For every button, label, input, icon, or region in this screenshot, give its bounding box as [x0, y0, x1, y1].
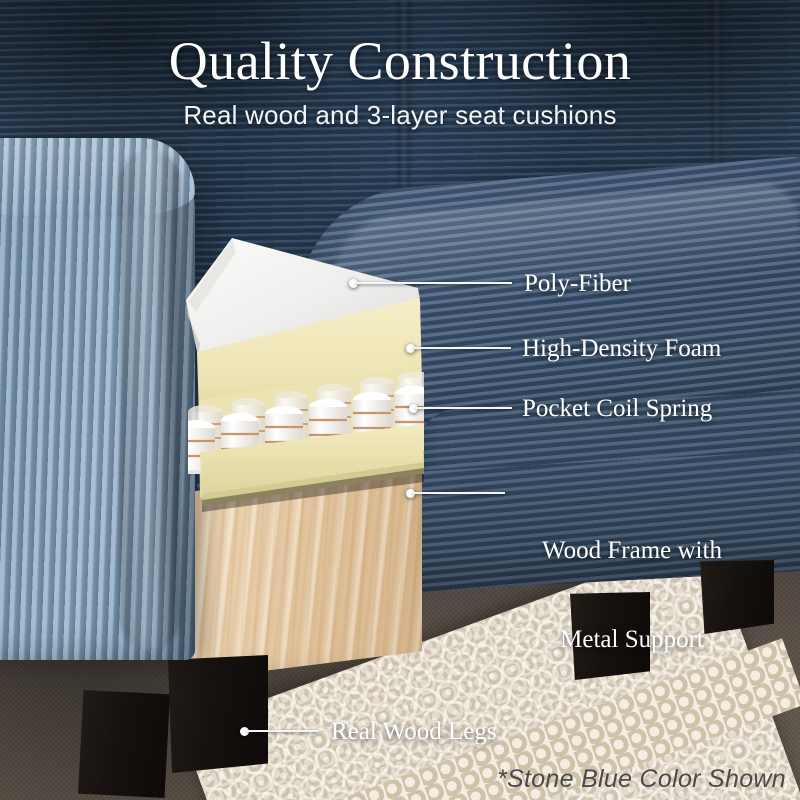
callout-label-real-wood-legs: Real Wood Legs	[331, 717, 497, 747]
wood-leg-front-left	[78, 690, 170, 798]
wood-grain-texture	[190, 475, 422, 680]
leader-line-real-wood-legs	[247, 730, 319, 732]
callout-label-wood-frame-line1: Wood Frame with	[522, 536, 742, 566]
callout-label-wood-frame-line2: Metal Support	[522, 625, 742, 655]
leader-line-poly-fiber	[356, 282, 512, 284]
leader-line-pocket-coil-spring	[416, 407, 512, 409]
color-footnote: *Stone Blue Color Shown	[497, 765, 786, 794]
callout-label-pocket-coil-spring: Pocket Coil Spring	[522, 394, 712, 424]
wood-leg-center	[168, 655, 268, 773]
page-subtitle: Real wood and 3-layer seat cushions	[0, 100, 800, 131]
product-infographic: Quality Construction Real wood and 3-lay…	[0, 0, 800, 800]
sofa-arm-fold	[120, 150, 180, 650]
callout-label-high-density-foam: High-Density Foam	[522, 334, 721, 364]
callout-label-poly-fiber: Poly-Fiber	[524, 269, 631, 299]
leader-line-high-density-foam	[413, 347, 511, 349]
page-title: Quality Construction	[0, 30, 800, 92]
leader-line-wood-frame	[413, 492, 505, 494]
callout-label-wood-frame: Wood Frame with Metal Support	[522, 477, 742, 713]
